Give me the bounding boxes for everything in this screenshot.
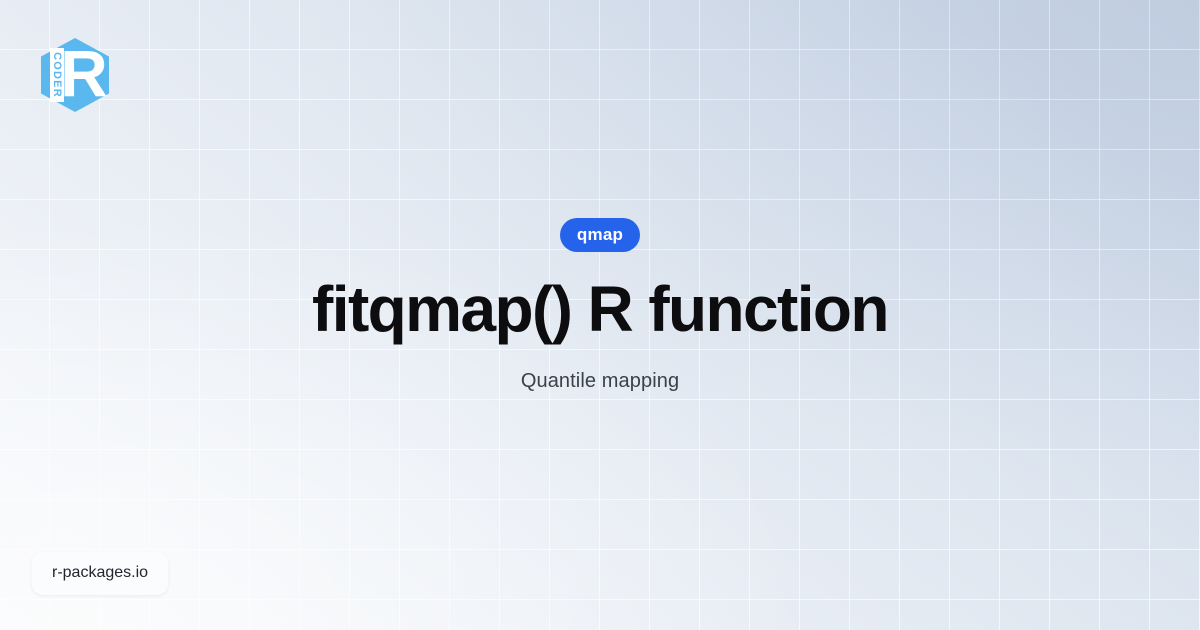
- site-domain-pill[interactable]: r-packages.io: [32, 552, 168, 595]
- og-image-card: CODER R qmap fitqmap() R function Quanti…: [0, 0, 1200, 630]
- page-title: fitqmap() R function: [312, 276, 888, 344]
- hero-content: qmap fitqmap() R function Quantile mappi…: [0, 0, 1200, 630]
- package-badge[interactable]: qmap: [560, 218, 640, 252]
- page-subtitle: Quantile mapping: [521, 368, 679, 394]
